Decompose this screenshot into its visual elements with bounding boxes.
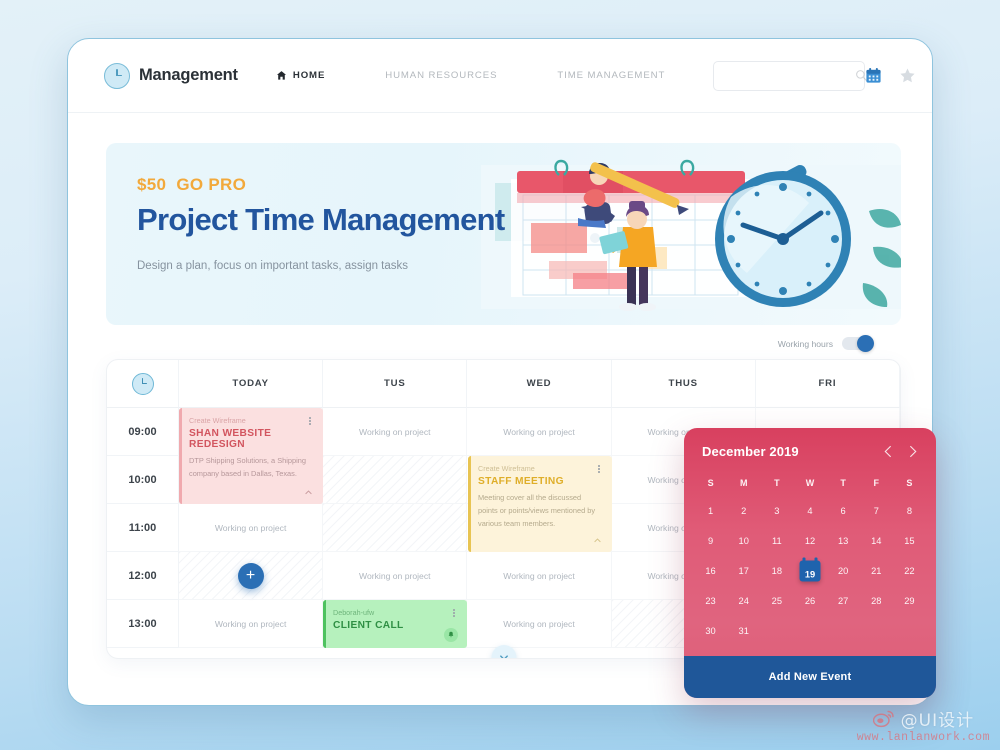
watermark-top: @UI设计 xyxy=(873,706,974,731)
hero-price: $50 xyxy=(137,175,166,194)
calendar-weekday-row: S M T W T F S xyxy=(684,474,936,498)
hero-title: Project Time Management xyxy=(137,202,505,238)
calendar-date[interactable]: 1 xyxy=(694,500,727,521)
calendar-date-selected[interactable]: 19 xyxy=(793,560,826,581)
calendar-date[interactable]: 31 xyxy=(727,620,760,641)
slot-wed-1300[interactable]: Working on project xyxy=(467,600,611,648)
add-event-fab[interactable]: + xyxy=(238,563,264,589)
event-card-shan-website-redesign[interactable]: Create Wireframe SHAN WEBSITE REDESIGN D… xyxy=(179,408,323,504)
calendar-date[interactable]: 21 xyxy=(860,560,893,581)
weekday-wed: W xyxy=(793,478,826,488)
search-input[interactable] xyxy=(723,70,855,81)
column-header-fri[interactable]: FRI xyxy=(756,360,900,408)
watermark-handle: @UI设计 xyxy=(901,706,974,731)
calendar-date[interactable]: 2 xyxy=(727,500,760,521)
calendar-date-grid: 1234678910111213141516171819202122232425… xyxy=(684,498,936,649)
clock-icon xyxy=(104,63,130,89)
event-menu-icon[interactable] xyxy=(594,463,604,475)
weekday-mon: M xyxy=(727,478,760,488)
calendar-date[interactable]: 18 xyxy=(760,560,793,581)
time-label-1000: 10:00 xyxy=(107,456,179,504)
event-kicker: Create Wireframe xyxy=(478,464,602,473)
column-header-today[interactable]: TODAY xyxy=(179,360,323,408)
watermark: @UI设计 www.lanlanwork.com xyxy=(857,706,990,744)
nav-links: HOME HUMAN RESOURCES TIME MANAGEMENT xyxy=(276,70,665,81)
brand[interactable]: Management xyxy=(104,63,238,89)
event-card-staff-meeting[interactable]: Create Wireframe STAFF MEETING Meeting c… xyxy=(468,456,612,552)
calendar-date[interactable]: 28 xyxy=(860,590,893,611)
selected-date-badge: 19 xyxy=(799,560,820,581)
calendar-date[interactable]: 27 xyxy=(827,590,860,611)
weekday-sat: S xyxy=(893,478,926,488)
hero-copy: $50 GO PRO Project Time Management Desig… xyxy=(137,175,505,272)
event-title: CLIENT CALL xyxy=(333,620,457,631)
calendar-date[interactable]: 6 xyxy=(827,500,860,521)
time-label-1200: 12:00 xyxy=(107,552,179,600)
event-title: STAFF MEETING xyxy=(478,476,602,487)
time-label-1100: 11:00 xyxy=(107,504,179,552)
slot-today-1200[interactable]: + xyxy=(179,552,323,600)
calendar-widget: December 2019 S M T W T F S 123467891011… xyxy=(684,428,936,698)
calendar-date[interactable]: 13 xyxy=(827,530,860,551)
chevron-right-icon[interactable] xyxy=(907,445,918,458)
event-card-client-call[interactable]: Deborah-ufw CLIENT CALL xyxy=(323,600,467,648)
calendar-date[interactable]: 29 xyxy=(893,590,926,611)
hero-illustration xyxy=(481,143,901,325)
weekday-fri: F xyxy=(860,478,893,488)
column-header-wed[interactable]: WED xyxy=(467,360,611,408)
nav-link-home[interactable]: HOME xyxy=(276,70,325,81)
chevron-left-icon[interactable] xyxy=(883,445,894,458)
calendar-date[interactable]: 12 xyxy=(793,530,826,551)
weibo-logo-icon xyxy=(873,709,895,728)
calendar-header: December 2019 xyxy=(684,428,936,474)
weekday-tue: T xyxy=(760,478,793,488)
column-header-thus[interactable]: THUS xyxy=(612,360,756,408)
clock-icon xyxy=(132,373,154,395)
event-title: SHAN WEBSITE REDESIGN xyxy=(189,428,313,450)
chevron-up-icon[interactable] xyxy=(593,536,602,545)
working-hours-label: Working hours xyxy=(778,339,833,349)
calendar-date[interactable]: 23 xyxy=(694,590,727,611)
slot-today-1300[interactable]: Working on project xyxy=(179,600,323,648)
calendar-date[interactable]: 7 xyxy=(860,500,893,521)
calendar-date[interactable]: 3 xyxy=(760,500,793,521)
chevron-down-icon xyxy=(498,652,509,659)
calendar-date[interactable]: 25 xyxy=(760,590,793,611)
event-description: Meeting cover all the discussed points o… xyxy=(478,492,602,531)
event-kicker: Create Wireframe xyxy=(189,416,313,425)
slot-wed-0900[interactable]: Working on project xyxy=(467,408,611,456)
calendar-date[interactable]: 30 xyxy=(694,620,727,641)
brand-name: Management xyxy=(139,66,238,85)
nav-link-home-label: HOME xyxy=(293,70,325,81)
calendar-date[interactable]: 11 xyxy=(760,530,793,551)
calendar-date[interactable]: 10 xyxy=(727,530,760,551)
calendar-nav xyxy=(883,445,918,458)
calendar-icon[interactable] xyxy=(865,67,882,84)
calendar-date[interactable]: 20 xyxy=(827,560,860,581)
calendar-date[interactable]: 16 xyxy=(694,560,727,581)
calendar-date[interactable]: 24 xyxy=(727,590,760,611)
event-description: DTP Shipping Solutions, a Shipping compa… xyxy=(189,455,313,481)
working-hours-control[interactable]: Working hours xyxy=(778,337,872,350)
column-header-tus[interactable]: TUS xyxy=(323,360,467,408)
slot-today-1100[interactable]: Working on project xyxy=(179,504,323,552)
event-menu-icon[interactable] xyxy=(305,415,315,427)
star-icon[interactable] xyxy=(899,67,916,84)
slot-tus-0900[interactable]: Working on project xyxy=(323,408,467,456)
watermark-url: www.lanlanwork.com xyxy=(857,731,990,744)
slot-tus-1000[interactable] xyxy=(323,456,467,504)
search-box[interactable] xyxy=(713,61,865,91)
hero-banner: $50 GO PRO Project Time Management Desig… xyxy=(106,143,901,325)
calendar-date[interactable]: 8 xyxy=(893,500,926,521)
calendar-date[interactable]: 26 xyxy=(793,590,826,611)
hero-kicker-label: GO PRO xyxy=(176,175,246,194)
slot-wed-1200[interactable]: Working on project xyxy=(467,552,611,600)
slot-tus-1100[interactable] xyxy=(323,504,467,552)
bell-icon[interactable] xyxy=(444,628,458,642)
hero-subtitle: Design a plan, focus on important tasks,… xyxy=(137,260,505,272)
chevron-up-icon[interactable] xyxy=(304,488,313,497)
weekday-sun: S xyxy=(694,478,727,488)
time-label-1300: 13:00 xyxy=(107,600,179,648)
calendar-date[interactable]: 15 xyxy=(893,530,926,551)
calendar-date[interactable]: 4 xyxy=(793,500,826,521)
schedule-clock-header xyxy=(107,360,179,408)
slot-tus-1200[interactable]: Working on project xyxy=(323,552,467,600)
top-navigation-bar: Management HOME HUMAN RESOURCES TIME MAN… xyxy=(68,39,932,113)
weekday-thu: T xyxy=(827,478,860,488)
toggle-knob xyxy=(857,335,874,352)
add-new-event-button[interactable]: Add New Event xyxy=(684,656,936,698)
calendar-date[interactable]: 17 xyxy=(727,560,760,581)
nav-actions: 0 xyxy=(865,63,933,88)
time-label-0900: 09:00 xyxy=(107,408,179,456)
calendar-date[interactable]: 22 xyxy=(893,560,926,581)
home-icon xyxy=(276,70,287,81)
event-kicker: Deborah-ufw xyxy=(333,608,457,617)
calendar-date[interactable]: 14 xyxy=(860,530,893,551)
calendar-title: December 2019 xyxy=(702,444,799,459)
nav-link-time-management[interactable]: TIME MANAGEMENT xyxy=(557,70,665,81)
hero-kicker: $50 GO PRO xyxy=(137,175,505,195)
nav-link-human-resources[interactable]: HUMAN RESOURCES xyxy=(385,70,497,81)
event-menu-icon[interactable] xyxy=(449,607,459,619)
working-hours-toggle[interactable] xyxy=(842,337,872,350)
calendar-date[interactable]: 9 xyxy=(694,530,727,551)
